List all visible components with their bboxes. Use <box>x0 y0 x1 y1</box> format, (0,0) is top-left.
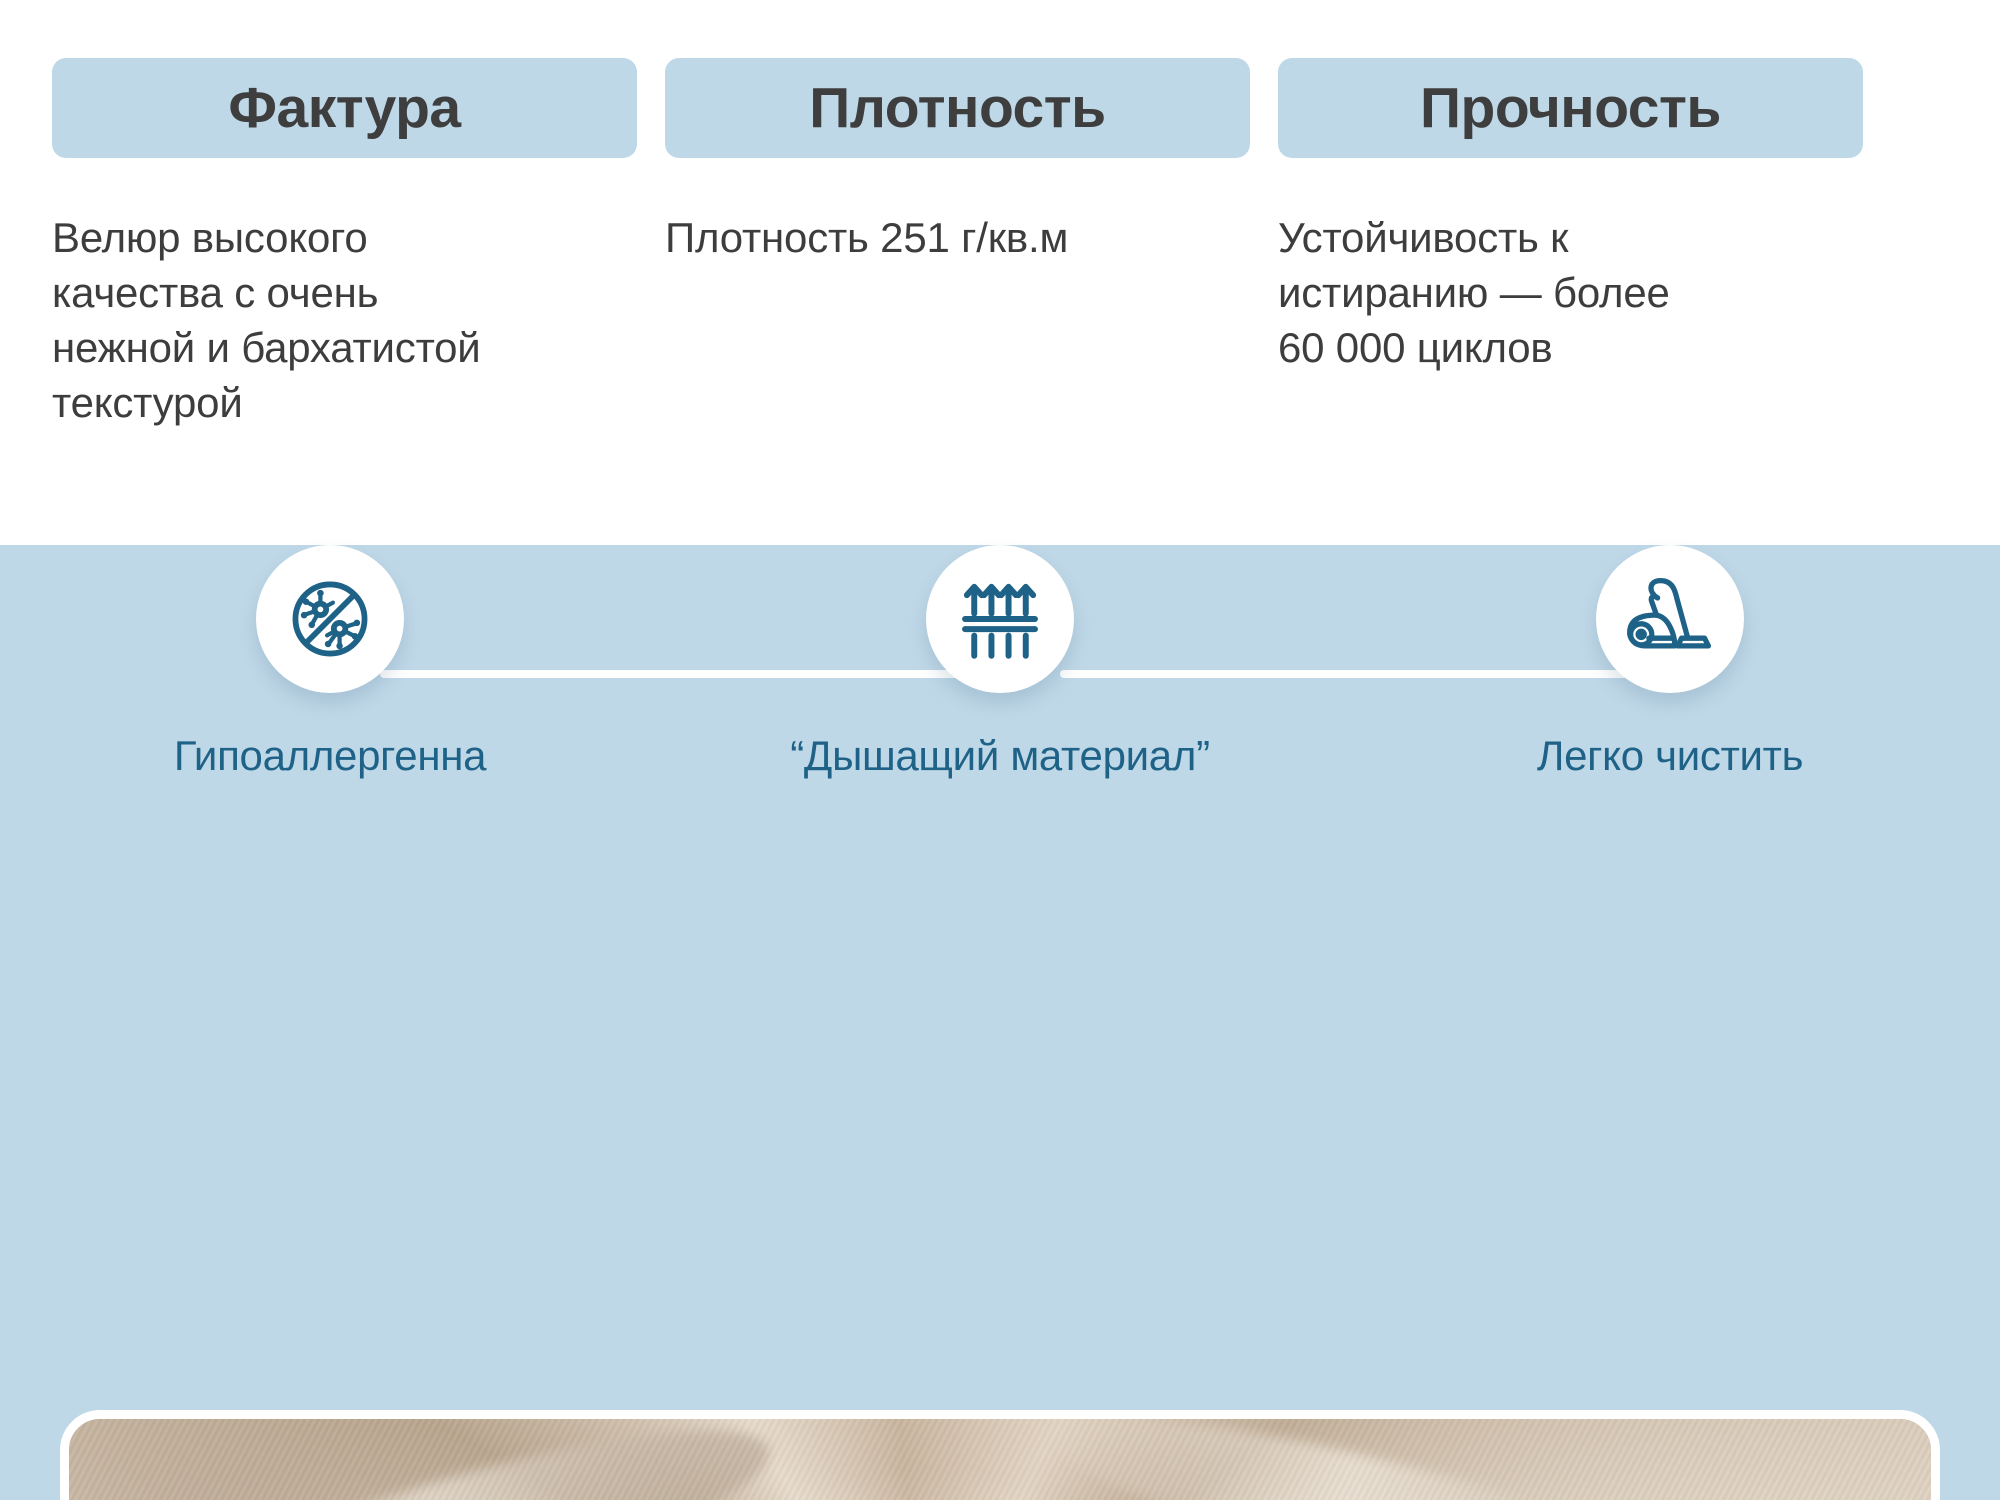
feature-easy-clean: Легко чистить <box>1460 545 1880 779</box>
feature-icon-badge <box>1596 545 1744 693</box>
spec-pill-texture: Фактура <box>52 58 637 158</box>
spec-column-density: Плотность Плотность 251 г/кв.м <box>665 58 1250 545</box>
spec-body-density: Плотность 251 г/кв.м <box>665 210 1250 265</box>
spec-body-durability: Устойчивость к истиранию — более 60 000 … <box>1278 210 1863 375</box>
spec-body-texture: Велюр высокого качества с очень нежной и… <box>52 210 637 430</box>
spec-column-texture: Фактура Велюр высокого качества с очень … <box>52 58 637 545</box>
feature-breathable: “Дышащий материал” <box>790 545 1210 779</box>
breathable-arrows-icon <box>954 573 1046 665</box>
feature-label-breathable: “Дышащий материал” <box>790 733 1210 779</box>
no-germ-icon <box>282 571 378 667</box>
features-row: Гипоаллергенна <box>0 545 2000 845</box>
specs-section: Фактура Велюр высокого качества с очень … <box>0 0 2000 545</box>
infographic-page: Фактура Велюр высокого качества с очень … <box>0 0 2000 1500</box>
feature-hypoallergenic: Гипоаллергенна <box>120 545 540 779</box>
fabric-photo-card <box>60 1410 1940 1500</box>
features-band: Гипоаллергенна <box>0 545 2000 1500</box>
spec-pill-density: Плотность <box>665 58 1250 158</box>
vacuum-cleaner-icon <box>1622 571 1718 667</box>
feature-icon-badge <box>256 545 404 693</box>
fabric-photo <box>69 1419 1931 1500</box>
feature-icon-badge <box>926 545 1074 693</box>
spec-column-durability: Прочность Устойчивость к истиранию — бол… <box>1278 58 1863 545</box>
feature-label-hypoallergenic: Гипоаллергенна <box>174 733 486 779</box>
spec-pill-durability: Прочность <box>1278 58 1863 158</box>
feature-label-easy-clean: Легко чистить <box>1537 733 1803 779</box>
